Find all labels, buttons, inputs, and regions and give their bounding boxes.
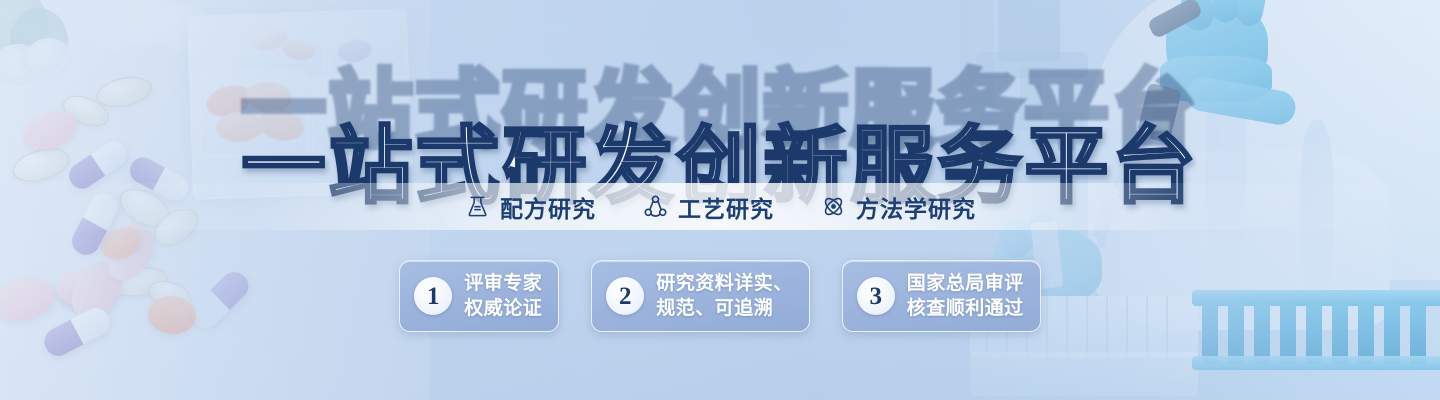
atom-icon — [820, 193, 847, 220]
feature-text: 评审专家 权威论证 — [464, 272, 542, 319]
feature-text: 国家总局审评 核查顺利通过 — [907, 272, 1024, 319]
feature-line-1: 研究资料详实、 — [656, 272, 793, 295]
feature-line-1: 国家总局审评 — [907, 272, 1024, 295]
subtitle-item-label: 方法学研究 — [856, 190, 976, 224]
subtitle-item-label: 工艺研究 — [678, 190, 774, 224]
feature-line-2: 规范、可追溯 — [656, 297, 793, 320]
subtitle-item-formulation[interactable]: 配方研究 — [464, 190, 596, 224]
flask-icon — [464, 193, 491, 220]
feature-line-1: 评审专家 — [464, 272, 542, 295]
feature-line-2: 核查顺利通过 — [907, 297, 1024, 320]
molecule-icon — [642, 193, 669, 220]
feature-number-badge: 1 — [414, 277, 452, 315]
feature-box-row: 1 评审专家 权威论证 2 研究资料详实、 规范、可追溯 3 国家总局审评 核查… — [0, 260, 1440, 332]
feature-number-badge: 3 — [857, 277, 895, 315]
feature-box-3[interactable]: 3 国家总局审评 核查顺利通过 — [842, 260, 1041, 332]
feature-number-badge: 2 — [606, 277, 644, 315]
feature-line-2: 权威论证 — [464, 297, 542, 320]
feature-text: 研究资料详实、 规范、可追溯 — [656, 272, 793, 319]
subtitle-row: 配方研究 工艺研究 — [0, 183, 1440, 230]
feature-box-2[interactable]: 2 研究资料详实、 规范、可追溯 — [591, 260, 810, 332]
subtitle-item-label: 配方研究 — [500, 190, 596, 224]
feature-box-1[interactable]: 1 评审专家 权威论证 — [399, 260, 559, 332]
hero-banner: 一站式研发创新服务平台 一站式研发创新服务平台 配方研究 — [0, 0, 1440, 400]
subtitle-item-methodology[interactable]: 方法学研究 — [820, 190, 976, 224]
subtitle-item-process[interactable]: 工艺研究 — [642, 190, 774, 224]
